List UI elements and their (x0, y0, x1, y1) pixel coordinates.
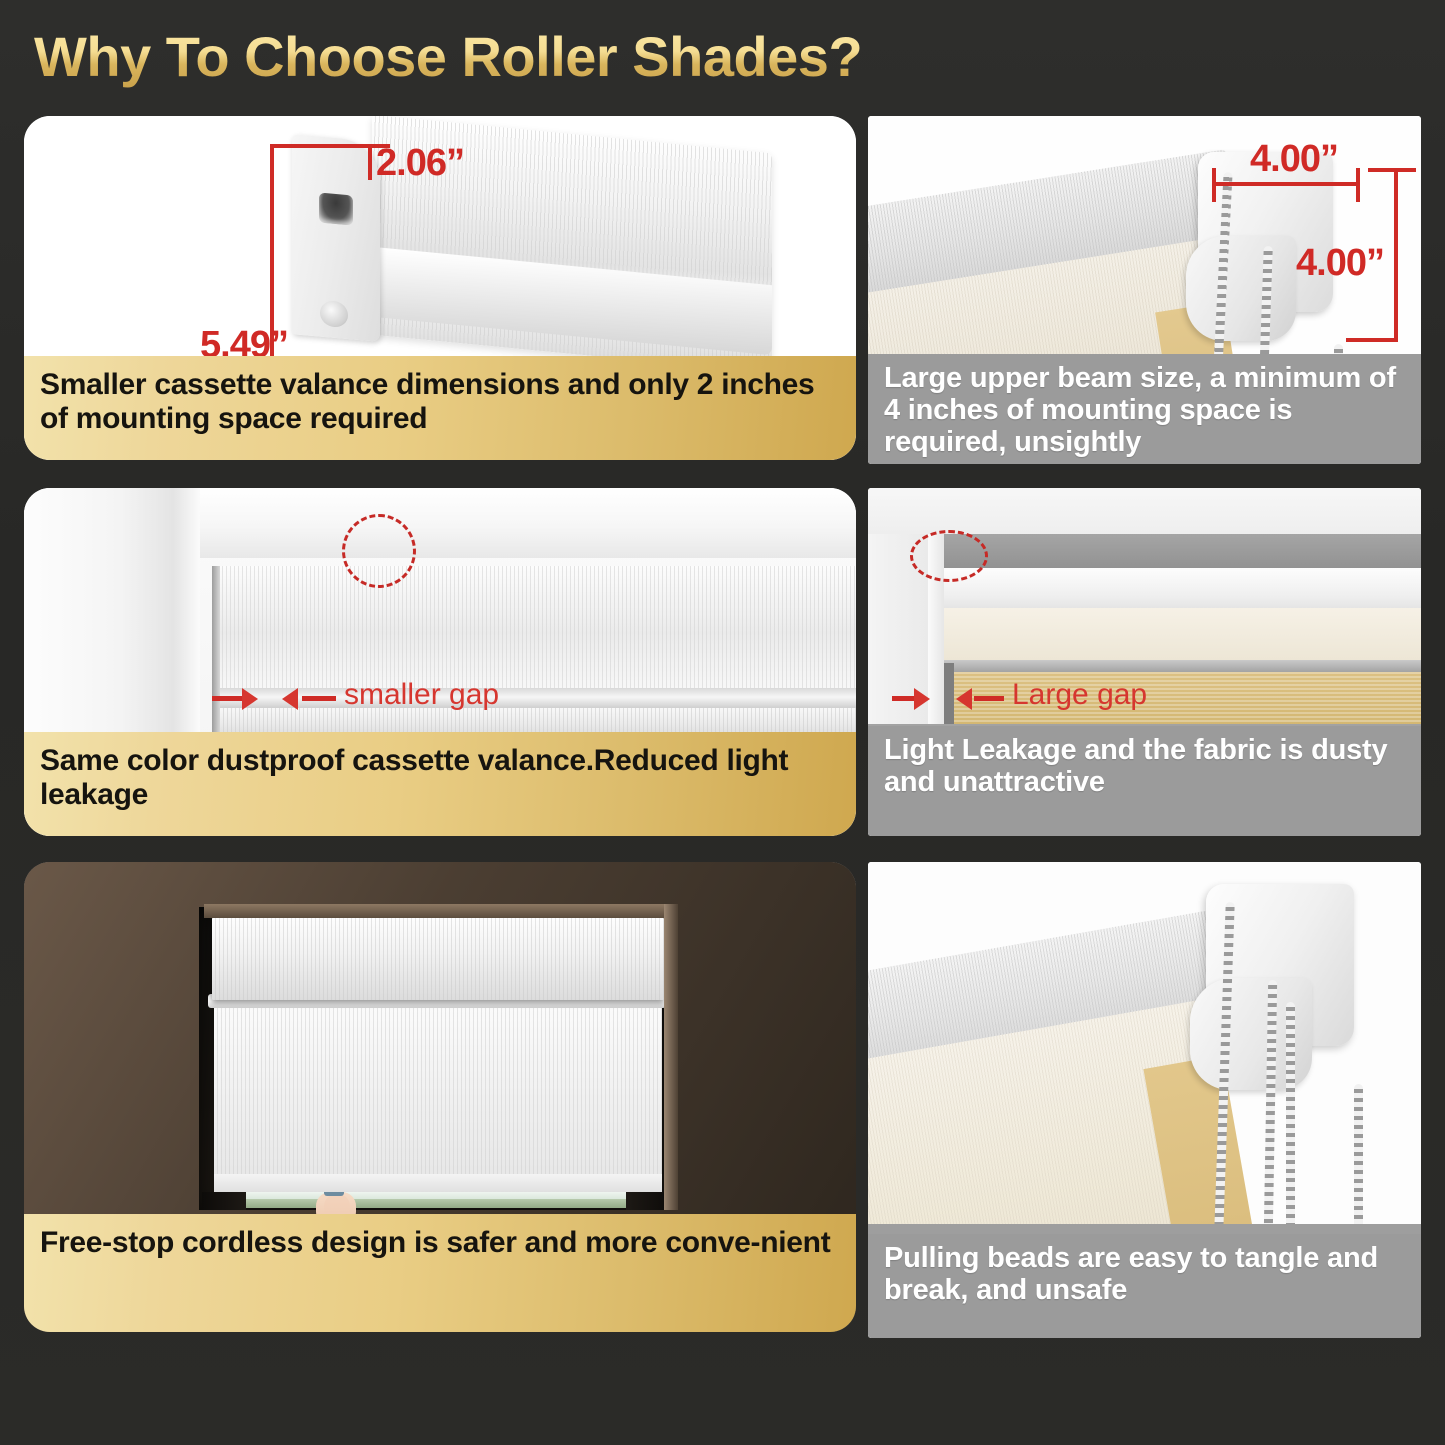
gap-label-smaller: smaller gap (344, 678, 499, 712)
shade-fabric (214, 1008, 662, 1190)
caption-con-2: Light Leakage and the fabric is dusty an… (868, 726, 1421, 836)
caption-pro-2: Same color dustproof cassette valance.Re… (24, 732, 856, 836)
beam-width-label: 4.00” (1250, 138, 1338, 181)
gap-arrow-right-head (956, 688, 972, 710)
shade-top-fabric (944, 608, 1421, 666)
sill-band (868, 1224, 1421, 1234)
beam-height-tick-bottom (1346, 338, 1398, 342)
width-dim-tick-right (368, 144, 372, 180)
valance-face (219, 566, 856, 688)
shade-left-edge (212, 566, 220, 732)
caption-con-3: Pulling beads are easy to tangle and bre… (868, 1234, 1421, 1338)
bead-chain-back (1354, 1084, 1363, 1234)
window-glass (246, 1192, 626, 1208)
infographic-page: Why To Choose Roller Shades? 2.06” 5.49”… (0, 0, 1445, 1445)
width-dimension-label: 2.06” (376, 142, 464, 185)
beam-height-tick-top (1368, 168, 1416, 172)
beam-height-line (1394, 168, 1398, 342)
highlight-circle-icon (342, 514, 416, 588)
beam-width-line (1212, 182, 1360, 186)
panel-con-bead-chain: Pulling beads are easy to tangle and bre… (868, 862, 1421, 1338)
caption-pro-3: Free-stop cordless design is safer and m… (24, 1214, 856, 1332)
beam-width-tick-right (1356, 168, 1360, 202)
bracket-lower-lobe (1186, 236, 1296, 341)
gap-arrow-right-shaft (302, 696, 336, 701)
width-dim-line (270, 144, 390, 148)
highlight-circle-icon (910, 530, 988, 582)
gap-label-large: Large gap (1012, 678, 1147, 712)
window-right-jamb (664, 904, 678, 1210)
panel-con-beam-size: 4.00” 4.00” Large upper beam size, a min… (868, 116, 1421, 464)
panel-pro-cordless: Free-stop cordless design is safer and m… (24, 862, 856, 1332)
cassette-valance (212, 914, 664, 1000)
endcap-slot (319, 193, 353, 226)
shade-fabric (220, 708, 856, 732)
sky (246, 1192, 626, 1199)
gap-arrow-right-head (282, 688, 298, 710)
bead-chain-mid-2 (1286, 1002, 1295, 1232)
gap-arrow-left-head (914, 688, 930, 710)
page-title: Why To Choose Roller Shades? (34, 24, 862, 89)
panel-con-large-gap: Large gap Light Leakage and the fabric i… (868, 488, 1421, 836)
beam-height-label: 4.00” (1296, 242, 1384, 285)
shade-bottom-hem (214, 1174, 662, 1192)
title-bar: Why To Choose Roller Shades? (0, 0, 1445, 108)
wall-top (868, 488, 1421, 534)
panel-pro-cassette-dimensions: 2.06” 5.49” Smaller cassette valance dim… (24, 116, 856, 460)
window-side-left (202, 1192, 246, 1210)
gap-arrow-right-shaft (974, 696, 1004, 701)
window-head-jamb (174, 488, 856, 558)
panel-pro-smaller-gap: smaller gap Same color dustproof cassett… (24, 488, 856, 836)
caption-con-1: Large upper beam size, a minimum of 4 in… (868, 354, 1421, 464)
window-header (204, 904, 664, 918)
gap-arrow-left-head (242, 688, 258, 710)
gap-shadow (944, 663, 954, 726)
caption-pro-1: Smaller cassette valance dimensions and … (24, 356, 856, 460)
